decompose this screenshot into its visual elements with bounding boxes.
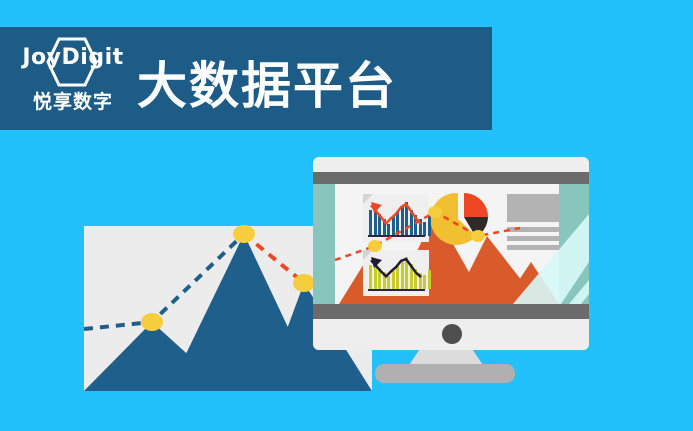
screen-left-panel: [313, 184, 335, 304]
trend-node: [428, 206, 442, 218]
monitor-screen: [313, 184, 589, 304]
screen-right-panel: [559, 184, 589, 304]
orange-trend-overlay: [335, 184, 559, 304]
page-title: 大数据平台: [137, 59, 397, 113]
brand-logo: JoyDigit 悦享数字: [18, 35, 128, 123]
trend-node: [471, 230, 485, 242]
trend-node: [368, 240, 382, 252]
monitor-base: [375, 364, 515, 383]
monitor: [313, 157, 589, 350]
power-button[interactable]: [442, 324, 462, 344]
monitor-bottom-bezel: [313, 304, 589, 319]
dashboard-canvas: [335, 184, 559, 304]
screenshot-stage: JoyDigit 悦享数字 大数据平台: [0, 0, 693, 431]
monitor-top-bezel: [313, 172, 589, 184]
background-accent: [0, 230, 110, 400]
logo-subtitle: 悦享数字: [18, 87, 128, 114]
logo-wordmark: JoyDigit: [18, 45, 128, 70]
header-banner: JoyDigit 悦享数字 大数据平台: [0, 27, 492, 130]
